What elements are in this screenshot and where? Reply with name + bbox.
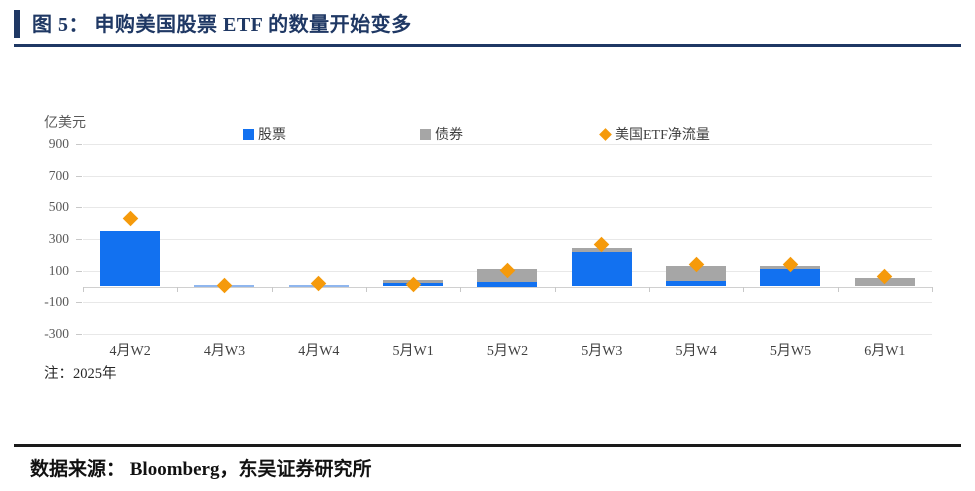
bar-group[interactable] <box>366 144 460 334</box>
figure-header: 图 5： 申购美国股票 ETF 的数量开始变多 <box>0 0 975 46</box>
netflow-marker[interactable] <box>122 211 138 227</box>
y-axis-tick-label: 900 <box>23 136 69 152</box>
diamond-icon <box>599 128 612 141</box>
x-axis-category-label: 5月W2 <box>487 340 528 360</box>
y-gridline <box>83 334 932 335</box>
plot-area: -300-1001003005007009004月W24月W34月W45月W15… <box>83 144 932 334</box>
chart-note: 注：2025年 <box>44 362 117 383</box>
x-tick-mark <box>177 287 178 292</box>
bar-group[interactable] <box>272 144 366 334</box>
bar-segment-equity[interactable] <box>572 252 632 286</box>
bar-segment-equity[interactable] <box>100 231 160 286</box>
x-axis-category-label: 4月W4 <box>298 340 339 360</box>
y-tick-mark <box>76 239 82 240</box>
legend-label-netflow: 美国ETF净流量 <box>615 124 710 144</box>
x-tick-mark <box>460 287 461 292</box>
bar-segment-equity[interactable] <box>477 282 537 287</box>
bar-group[interactable] <box>83 144 177 334</box>
y-tick-mark <box>76 176 82 177</box>
y-axis-tick-label: 500 <box>23 199 69 215</box>
y-tick-mark <box>76 207 82 208</box>
title-accent-bar <box>14 10 20 38</box>
netflow-marker[interactable] <box>311 276 327 292</box>
x-axis-category-label: 6月W1 <box>864 340 905 360</box>
x-axis-category-label: 4月W3 <box>204 340 245 360</box>
y-axis-tick-label: -100 <box>23 294 69 310</box>
square-icon <box>420 129 431 140</box>
legend-item-bond: 债券 <box>420 124 463 144</box>
y-tick-mark <box>76 334 82 335</box>
x-axis-category-label: 5月W5 <box>770 340 811 360</box>
x-tick-mark <box>838 287 839 292</box>
footer-divider <box>14 444 961 447</box>
bar-group[interactable] <box>743 144 837 334</box>
chart-legend: 股票 债券 美国ETF净流量 <box>0 124 975 146</box>
legend-label-equity: 股票 <box>258 124 286 144</box>
x-axis-category-label: 4月W2 <box>110 340 151 360</box>
x-tick-mark <box>83 287 84 292</box>
legend-label-bond: 债券 <box>435 124 463 144</box>
square-icon <box>243 129 254 140</box>
bar-group[interactable] <box>177 144 271 334</box>
netflow-marker[interactable] <box>217 278 233 294</box>
x-tick-mark <box>272 287 273 292</box>
x-tick-mark <box>649 287 650 292</box>
y-axis-tick-label: 300 <box>23 231 69 247</box>
x-tick-mark <box>743 287 744 292</box>
bar-group[interactable] <box>838 144 932 334</box>
x-axis-category-label: 5月W1 <box>393 340 434 360</box>
chart-container: 亿美元 股票 债券 美国ETF净流量 -300-1001003005007009… <box>0 46 975 391</box>
page-title: 图 5： 申购美国股票 ETF 的数量开始变多 <box>32 8 412 37</box>
legend-item-netflow: 美国ETF净流量 <box>601 124 710 144</box>
y-axis-tick-label: 100 <box>23 263 69 279</box>
x-tick-mark <box>366 287 367 292</box>
bar-group[interactable] <box>460 144 554 334</box>
bar-segment-equity[interactable] <box>666 281 726 287</box>
y-axis-tick-label: 700 <box>23 168 69 184</box>
y-tick-mark <box>76 302 82 303</box>
bar-group[interactable] <box>555 144 649 334</box>
y-axis-tick-label: -300 <box>23 326 69 342</box>
source-note: 数据来源： Bloomberg，东吴证券研究所 <box>30 454 371 481</box>
y-tick-mark <box>76 144 82 145</box>
bar-group[interactable] <box>649 144 743 334</box>
legend-item-equity: 股票 <box>243 124 286 144</box>
x-tick-mark <box>555 287 556 292</box>
y-tick-mark <box>76 271 82 272</box>
x-axis-category-label: 5月W4 <box>676 340 717 360</box>
x-axis-category-label: 5月W3 <box>581 340 622 360</box>
x-tick-mark <box>932 287 933 292</box>
